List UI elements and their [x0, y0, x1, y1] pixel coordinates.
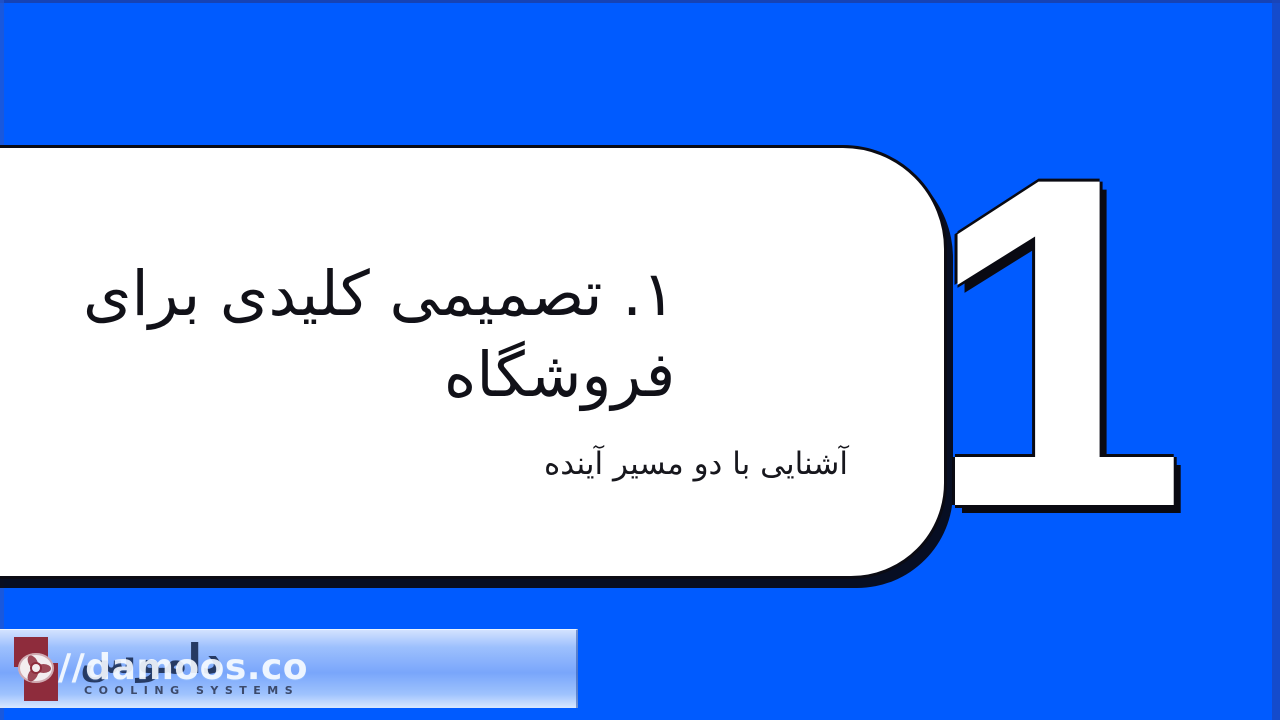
- damoos-logo-icon: [10, 637, 62, 701]
- watermark-row: داموس COOLING SYSTEMS: [0, 630, 576, 708]
- title-card: ۱. تصمیمی کلیدی برای فروشگاه آشنایی با د…: [0, 145, 947, 579]
- page-subtitle: آشنایی با دو مسیر آینده: [83, 444, 848, 486]
- fan-hub-icon: [32, 664, 40, 672]
- slide-canvas: 1 ۱. تصمیمی کلیدی برای فروشگاه آشنایی با…: [0, 0, 1280, 720]
- page-title-line-1: ۱. تصمیمی کلیدی برای: [83, 257, 675, 330]
- page-title: ۱. تصمیمی کلیدی برای فروشگاه: [83, 254, 675, 415]
- top-edge-line: [0, 0, 1280, 3]
- watermark-band: داموس COOLING SYSTEMS //damoos.co: [0, 629, 578, 708]
- fan-icon: [18, 653, 54, 683]
- right-edge-line: [1272, 0, 1280, 720]
- step-number: 1: [925, 108, 1168, 578]
- title-card-content: ۱. تصمیمی کلیدی برای فروشگاه آشنایی با د…: [0, 148, 944, 576]
- brand-name: داموس: [80, 637, 223, 681]
- brand-text-block: داموس COOLING SYSTEMS: [76, 637, 576, 701]
- brand-tagline: COOLING SYSTEMS: [84, 684, 299, 697]
- page-title-line-2: فروشگاه: [444, 338, 675, 411]
